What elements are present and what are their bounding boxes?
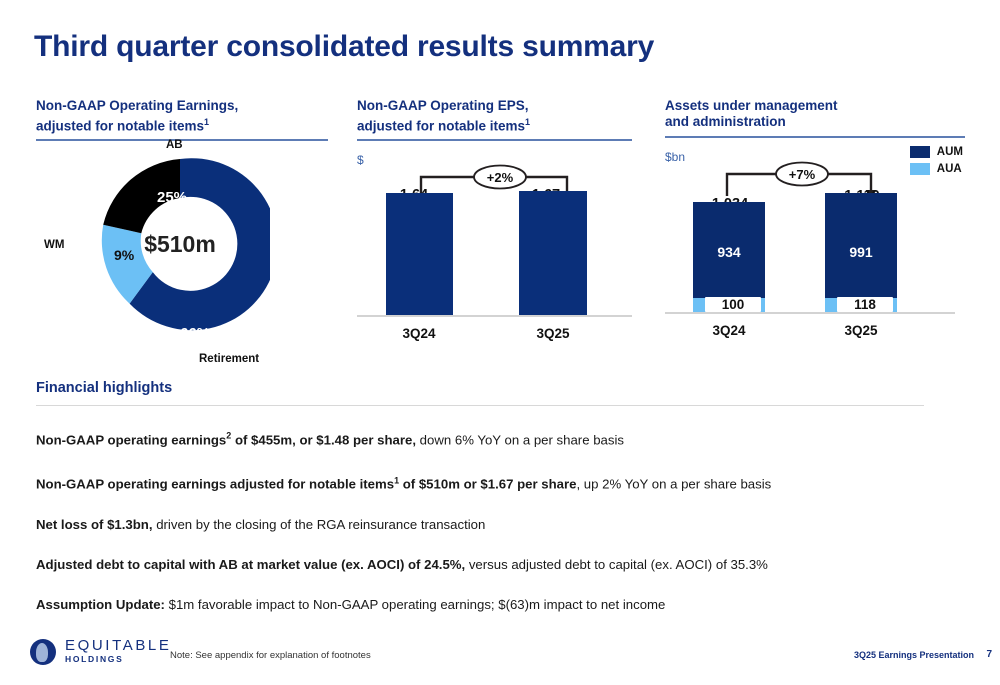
aum-xlabel-3q24: 3Q24: [679, 323, 779, 338]
financial-highlights-title: Financial highlights: [36, 380, 924, 396]
eps-xlabel-3q25: 3Q25: [503, 326, 603, 341]
footnote-note: Note: See appendix for explanation of fo…: [170, 650, 371, 661]
highlight-item: Non-GAAP operating earnings adjusted for…: [36, 472, 924, 492]
highlight-item: Adjusted debt to capital with AB at mark…: [36, 557, 924, 573]
aum-callout-text: +7%: [776, 167, 828, 182]
donut-category-retirement: Retirement: [199, 353, 259, 365]
footnote-marker: 1: [525, 117, 530, 127]
donut-value-ab: 25%: [157, 189, 187, 206]
footer-deck-name: 3Q25 Earnings Presentation: [854, 650, 974, 660]
donut-value-retirement: 66%: [180, 325, 210, 342]
highlight-bold: Adjusted debt to capital with AB at mark…: [36, 557, 465, 572]
legend-item-aua: AUA: [910, 163, 963, 175]
panel-operating-earnings: Non-GAAP Operating Earnings, adjusted fo…: [36, 98, 328, 337]
charts-row: Non-GAAP Operating Earnings, adjusted fo…: [0, 98, 1000, 348]
panel-title-aum: Assets under management and administrati…: [665, 98, 965, 132]
legend-label-aua: AUA: [937, 163, 962, 175]
highlight-bold: Net loss of $1.3bn,: [36, 517, 153, 532]
highlight-normal: driven by the closing of the RGA reinsur…: [153, 517, 486, 532]
aum-baseline: [665, 312, 955, 314]
panel-divider: [665, 136, 965, 138]
eps-xlabel-3q24: 3Q24: [369, 326, 469, 341]
legend-swatch-aua: [910, 163, 930, 175]
panel-title-line1: Assets under management: [665, 98, 838, 113]
highlight-normal: $1m favorable impact to Non-GAAP operati…: [165, 597, 665, 612]
legend-label-aum: AUM: [937, 146, 963, 158]
panel-title-line2: adjusted for notable items: [357, 119, 525, 134]
highlight-bold: Non-GAAP operating earnings adjusted for…: [36, 477, 394, 492]
financial-highlights-divider: [36, 405, 924, 406]
aum-xlabel-3q25: 3Q25: [811, 323, 911, 338]
footnote-marker: 1: [204, 117, 209, 127]
logo-subtext: HOLDINGS: [65, 654, 123, 664]
logo-wordmark: EQUITABLE: [65, 637, 171, 654]
panel-divider: [357, 139, 632, 141]
donut-value-wm: 9%: [114, 247, 134, 263]
panel-title-operating-eps: Non-GAAP Operating EPS, adjusted for not…: [357, 98, 632, 135]
slide-footer: EQUITABLE HOLDINGS Note: See appendix fo…: [0, 625, 1000, 685]
panel-title-line2: and administration: [665, 114, 786, 129]
highlight-bold-rest: of $510m or $1.67 per share: [399, 477, 576, 492]
panel-aum: Assets under management and administrati…: [665, 98, 965, 340]
equitable-logo: EQUITABLE HOLDINGS: [30, 639, 171, 665]
highlight-item: Non-GAAP operating earnings2 of $455m, o…: [36, 428, 924, 448]
highlight-normal: , up 2% YoY on a per share basis: [576, 477, 771, 492]
eps-baseline: [357, 315, 632, 317]
highlight-normal: down 6% YoY on a per share basis: [416, 432, 624, 447]
highlight-bold-rest: of $455m, or $1.48 per share,: [231, 432, 416, 447]
aum-value-aua-3q24: 100: [705, 297, 761, 312]
eps-callout-text: +2%: [474, 170, 526, 185]
donut-chart: [90, 155, 270, 335]
panel-title-line1: Non-GAAP Operating Earnings,: [36, 98, 238, 113]
equitable-logo-icon: [30, 639, 56, 665]
highlight-item: Net loss of $1.3bn, driven by the closin…: [36, 517, 924, 533]
equitable-logo-text: EQUITABLE HOLDINGS: [65, 640, 171, 665]
panel-operating-eps: Non-GAAP Operating EPS, adjusted for not…: [357, 98, 632, 343]
footer-page-number: 7: [986, 649, 992, 660]
eps-bar-3q24: [386, 193, 453, 315]
panel-title-operating-earnings: Non-GAAP Operating Earnings, adjusted fo…: [36, 98, 328, 135]
aum-value-aum-3q25: 991: [825, 244, 897, 260]
financial-highlights: Financial highlights Non-GAAP operating …: [36, 380, 924, 637]
aum-value-aum-3q24: 934: [693, 244, 765, 260]
eps-bar-chart: $ +2% 1.64 3Q24 1.67 3Q25: [357, 143, 632, 343]
panel-title-line2: adjusted for notable items: [36, 119, 204, 134]
aum-value-aua-3q25: 118: [837, 297, 893, 312]
slide: Third quarter consolidated results summa…: [0, 0, 1000, 685]
financial-highlights-list: Non-GAAP operating earnings2 of $455m, o…: [36, 428, 924, 613]
highlight-normal: versus adjusted debt to capital (ex. AOC…: [465, 557, 768, 572]
donut-category-ab: AB: [166, 139, 183, 151]
highlight-bold: Assumption Update:: [36, 597, 165, 612]
highlight-bold: Non-GAAP operating earnings: [36, 432, 226, 447]
donut-category-wm: WM: [44, 239, 64, 251]
aum-bar-chart: $bn AUM AUA: [665, 140, 965, 340]
panel-title-line1: Non-GAAP Operating EPS,: [357, 98, 529, 113]
legend-swatch-aum: [910, 146, 930, 158]
highlight-item: Assumption Update: $1m favorable impact …: [36, 597, 924, 613]
legend-item-aum: AUM: [910, 146, 963, 158]
donut-chart-wrap: AB WM Retirement $510m 25% 9% 66: [36, 141, 328, 337]
axis-unit-bn: $bn: [665, 150, 685, 164]
page-title: Third quarter consolidated results summa…: [34, 30, 654, 64]
aum-legend: AUM AUA: [910, 146, 963, 180]
eps-bar-3q25: [519, 191, 587, 315]
axis-unit-dollar: $: [357, 153, 364, 167]
